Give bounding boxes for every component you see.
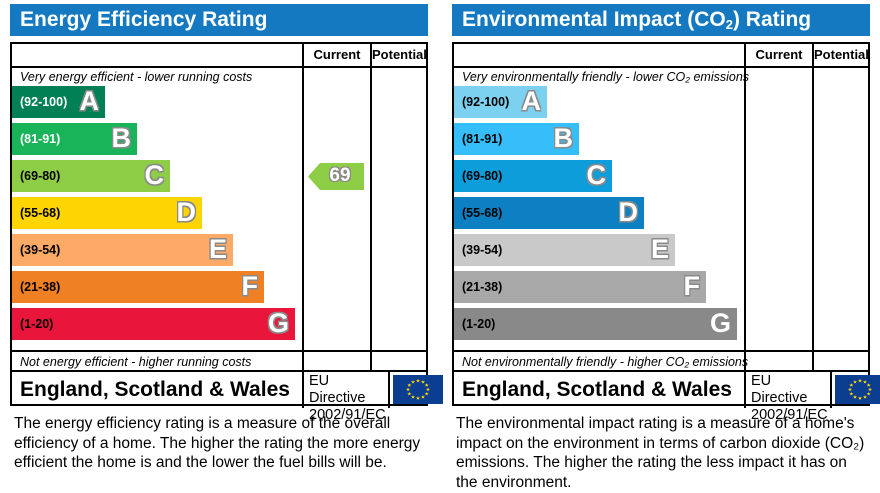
- band-range-e: (39-54): [462, 234, 502, 266]
- co2-caption-top: Very environmentally friendly - lower CO…: [454, 68, 744, 86]
- co2-caption-divider-1: [744, 350, 746, 370]
- rating-band-d: (55-68)D: [454, 197, 644, 229]
- co2-country-label: England, Scotland & Wales: [462, 372, 732, 408]
- band-letter-a: A: [522, 86, 542, 118]
- band-range-b: (81-91): [462, 123, 502, 155]
- energy-eu-flag-cell: [388, 372, 426, 408]
- energy-current-rating-marker: 69: [308, 163, 364, 190]
- environmental-impact-panel: Environmental Impact (CO2) Rating Curren…: [442, 0, 880, 493]
- energy-caption-divider-2: [370, 350, 372, 370]
- co2-footnote: The environmental impact rating is a mea…: [456, 414, 866, 492]
- band-range-c: (69-80): [462, 160, 502, 192]
- energy-efficiency-panel: Energy Efficiency Rating Current Potenti…: [0, 0, 438, 493]
- co2-title-prefix: Environmental Impact (CO: [462, 8, 726, 31]
- band-range-f: (21-38): [462, 271, 502, 303]
- rating-band-b: (81-91)B: [454, 123, 579, 155]
- co2-header-potential: Potential: [812, 44, 868, 66]
- co2-eu-directive: EU Directive 2002/91/EC: [744, 372, 830, 408]
- band-letter-g: G: [710, 308, 731, 340]
- rating-band-b: (81-91)B: [12, 123, 137, 155]
- energy-column-divider-2: [370, 68, 372, 352]
- co2-country-row: England, Scotland & Wales EU Directive 2…: [454, 370, 868, 406]
- co2-column-divider-1: [744, 68, 746, 352]
- rating-band-a: (92-100)A: [454, 86, 547, 118]
- energy-rating-table: Current Potential Very energy efficient …: [10, 42, 428, 406]
- energy-footnote: The energy efficiency rating is a measur…: [14, 414, 424, 473]
- rating-band-a: (92-100)A: [12, 86, 105, 118]
- energy-country-label: England, Scotland & Wales: [20, 372, 290, 408]
- energy-table-header: Current Potential: [12, 44, 426, 68]
- band-range-g: (1-20): [462, 308, 495, 340]
- band-range-d: (55-68): [20, 197, 60, 229]
- band-letter-d: D: [177, 197, 197, 229]
- band-letter-b: B: [112, 123, 132, 155]
- band-letter-f: F: [684, 271, 701, 303]
- band-letter-f: F: [242, 271, 259, 303]
- eu-flag-icon: [393, 375, 443, 404]
- co2-caption-divider-2: [812, 350, 814, 370]
- rating-band-e: (39-54)E: [454, 234, 675, 266]
- co2-directive-line1: EU Directive: [751, 373, 830, 407]
- band-range-g: (1-20): [20, 308, 53, 340]
- rating-band-e: (39-54)E: [12, 234, 233, 266]
- band-letter-a: A: [80, 86, 100, 118]
- eu-flag-icon: [835, 375, 880, 404]
- co2-panel-title: Environmental Impact (CO2) Rating: [452, 4, 870, 36]
- energy-current-rating-value: 69: [308, 163, 362, 190]
- co2-column-divider-2: [812, 68, 814, 352]
- band-range-d: (55-68): [462, 197, 502, 229]
- band-letter-d: D: [619, 197, 639, 229]
- co2-header-current: Current: [744, 44, 812, 66]
- co2-title-subscript: 2: [726, 17, 733, 32]
- rating-band-g: (1-20)G: [454, 308, 737, 340]
- energy-eu-directive: EU Directive 2002/91/EC: [302, 372, 388, 408]
- band-range-b: (81-91): [20, 123, 60, 155]
- energy-header-potential: Potential: [370, 44, 426, 66]
- energy-header-current: Current: [302, 44, 370, 66]
- energy-country-row: England, Scotland & Wales EU Directive 2…: [12, 370, 426, 406]
- band-letter-e: E: [651, 234, 669, 266]
- band-letter-e: E: [209, 234, 227, 266]
- band-letter-c: C: [145, 160, 165, 192]
- co2-band-list: (92-100)A(81-91)B(69-80)C(55-68)D(39-54)…: [454, 86, 744, 350]
- band-range-e: (39-54): [20, 234, 60, 266]
- rating-band-d: (55-68)D: [12, 197, 202, 229]
- band-range-a: (92-100): [462, 86, 509, 118]
- rating-band-c: (69-80)C: [12, 160, 170, 192]
- band-letter-c: C: [587, 160, 607, 192]
- band-letter-b: B: [554, 123, 574, 155]
- energy-caption-top: Very energy efficient - lower running co…: [12, 68, 302, 86]
- co2-eu-flag-cell: [830, 372, 868, 408]
- energy-caption-divider-1: [302, 350, 304, 370]
- energy-column-divider-1: [302, 68, 304, 352]
- energy-title-text: Energy Efficiency Rating: [20, 8, 267, 31]
- energy-band-list: (92-100)A(81-91)B(69-80)C(55-68)D(39-54)…: [12, 86, 302, 350]
- co2-title-suffix: ) Rating: [733, 8, 811, 31]
- band-range-a: (92-100): [20, 86, 67, 118]
- rating-band-g: (1-20)G: [12, 308, 295, 340]
- rating-band-f: (21-38)F: [454, 271, 706, 303]
- co2-caption-bottom: Not environmentally friendly - higher CO…: [454, 350, 868, 370]
- energy-caption-bottom: Not energy efficient - higher running co…: [12, 350, 426, 370]
- rating-band-c: (69-80)C: [454, 160, 612, 192]
- rating-band-f: (21-38)F: [12, 271, 264, 303]
- band-range-c: (69-80): [20, 160, 60, 192]
- band-letter-g: G: [268, 308, 289, 340]
- band-range-f: (21-38): [20, 271, 60, 303]
- co2-rating-table: Current Potential Very environmentally f…: [452, 42, 870, 406]
- energy-directive-line1: EU Directive: [309, 373, 388, 407]
- co2-table-header: Current Potential: [454, 44, 868, 68]
- epc-certificate-graphs: Energy Efficiency Rating Current Potenti…: [0, 0, 880, 493]
- energy-panel-title: Energy Efficiency Rating: [10, 4, 428, 36]
